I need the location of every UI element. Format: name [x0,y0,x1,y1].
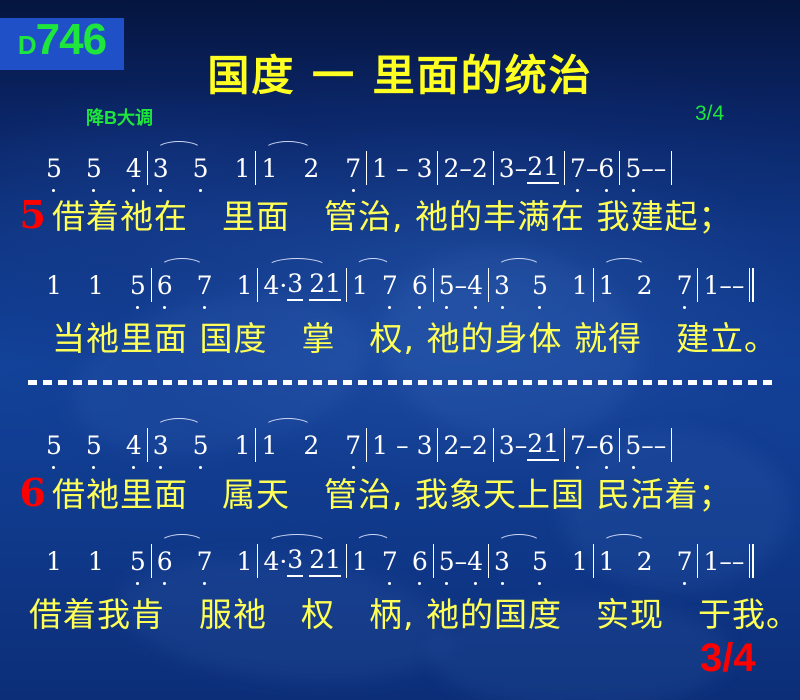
note: 3 [494,271,510,300]
barline [593,268,594,302]
note: 5 [625,154,641,183]
note: 3 [494,547,510,576]
note: 2 [443,431,459,460]
note: 1 [325,545,341,574]
note: 1 [572,547,588,576]
barline [366,428,367,462]
note: 1 [599,271,615,300]
note: 5 [46,431,62,460]
lyric-text: 借祂里面 属天 管治, 我象天上国 民活着； [52,468,732,516]
rest-dash: – [654,431,667,460]
note: 1 [543,429,559,458]
note: 1 [372,154,388,183]
note: 1 [325,269,341,298]
barline [488,544,489,578]
note: 5 [130,271,146,300]
note: 2 [637,271,653,300]
lyric-text: 借着祂在 里面 管治, 祂的丰满在 我建起； [52,190,732,238]
note: 1 [88,271,104,300]
rest-dash: – [732,271,745,300]
note: 1 [352,271,368,300]
note: 7 [570,431,586,460]
note: 1 [235,431,251,460]
lyric-line-3: 6 借祂里面 属天 管治, 我象天上国 民活着； [0,468,800,516]
note: 4 [467,547,483,576]
notation-line-4: 1 1 5 6 7 1 4 · 3 21 1 7 6 5–4 3 5 1 1 2… [46,538,766,584]
note: 1 [543,152,559,181]
augmentation-dot: · [279,547,287,576]
note: 2 [309,545,325,574]
lyric-line-1: 5 借着祂在 里面 管治, 祂的丰满在 我建起； [0,190,800,238]
note: 7 [570,154,586,183]
note: 1 [46,547,62,576]
note: 7 [677,547,693,576]
rest-dash: – [719,547,732,576]
note: 7 [345,431,361,460]
note: 4 [263,547,279,576]
barline [697,544,698,578]
barline [488,268,489,302]
slide-canvas: D746 国度 一 里面的统治 降B大调 3/4 5 5 4 3 5 1 1 2… [0,0,800,700]
lyric-line-4: 借着我肯 服祂 权 柄, 祂的国度 实现 于我。 [0,588,800,636]
notation-line-1: 5 5 4 3 5 1 1 2 7 1 – 3 2–2 3–21 7–6 5–– [46,145,766,191]
lyric-line-2: 当祂里面 国度 掌 权, 祂的身体 就得 建立。 [0,312,800,360]
barline [433,544,434,578]
rest-dash: – [515,154,528,183]
note: 3 [153,431,169,460]
time-signature-bottom: 3/4 [700,636,756,681]
note: 5 [193,154,209,183]
note: 4 [126,431,142,460]
note: 1 [352,547,368,576]
note: 6 [157,271,173,300]
note: 5 [439,547,455,576]
note: 1 [703,271,719,300]
note: 1 [46,271,62,300]
barline [493,151,494,185]
note: 5 [130,547,146,576]
note: 5 [86,154,102,183]
rest-dash: – [586,431,599,460]
note: 2 [443,154,459,183]
beamed-notes: 21 [309,545,341,577]
note: 5 [46,154,62,183]
note: 5 [532,547,548,576]
rest-dash: – [396,431,409,460]
barline [147,151,148,185]
barline [151,268,152,302]
rest-dash: – [654,154,667,183]
barline [437,428,438,462]
beamed-note: 3 [287,269,303,301]
rest-dash: – [455,547,468,576]
beamed-notes: 21 [527,429,559,461]
note: 2 [472,154,488,183]
note: 3 [417,154,433,183]
barline [346,268,347,302]
rest-dash: – [732,547,745,576]
note: 2 [637,547,653,576]
note: 1 [703,547,719,576]
section-divider [28,380,772,385]
note: 1 [372,431,388,460]
note: 5 [193,431,209,460]
note: 1 [599,547,615,576]
beamed-note: 3 [287,545,303,577]
rest-dash: – [459,431,472,460]
note: 3 [499,431,515,460]
note: 7 [382,547,398,576]
barline [619,428,620,462]
note: 1 [237,271,253,300]
note: 1 [572,271,588,300]
barline [255,151,256,185]
double-barline [749,268,754,302]
rest-dash: – [641,154,654,183]
note: 2 [303,154,319,183]
barline [671,428,672,462]
lyric-text: 借着我肯 服祂 权 柄, 祂的国度 实现 于我。 [29,588,800,636]
note: 1 [88,547,104,576]
note: 3 [417,431,433,460]
note: 3 [153,154,169,183]
beamed-notes: 21 [527,152,559,184]
double-barline [749,544,754,578]
note: 2 [309,269,325,298]
note: 2 [527,429,543,458]
note: 1 [235,154,251,183]
note: 5 [86,431,102,460]
note: 3 [287,545,303,574]
verse-number: 6 [0,470,52,515]
note: 3 [287,269,303,298]
barline [564,428,565,462]
note: 1 [261,154,277,183]
note: 6 [598,431,614,460]
beamed-notes: 21 [309,269,341,301]
augmentation-dot: · [279,271,287,300]
note: 2 [527,152,543,181]
rest-dash: – [515,431,528,460]
rest-dash: – [719,271,732,300]
barline [437,151,438,185]
rest-dash: – [586,154,599,183]
barline [366,151,367,185]
rest-dash: – [396,154,409,183]
page-title: 国度 一 里面的统治 [0,42,800,103]
notation-line-2: 1 1 5 6 7 1 4 · 3 21 1 7 6 5–4 3 5 1 1 2… [46,262,766,308]
barline [564,151,565,185]
note: 5 [625,431,641,460]
note: 2 [472,431,488,460]
rest-dash: – [455,271,468,300]
note: 7 [677,271,693,300]
barline [151,544,152,578]
note: 3 [499,154,515,183]
barline [346,544,347,578]
note: 4 [263,271,279,300]
barline [257,544,258,578]
note: 5 [439,271,455,300]
note: 6 [157,547,173,576]
note: 2 [303,431,319,460]
note: 4 [126,154,142,183]
barline [433,268,434,302]
lyric-text: 当祂里面 国度 掌 权, 祂的身体 就得 建立。 [52,312,778,360]
rest-dash: – [459,154,472,183]
barline [671,151,672,185]
key-signature-label: 降B大调 [86,104,153,130]
note: 1 [237,547,253,576]
note: 1 [261,431,277,460]
note: 7 [345,154,361,183]
time-signature-top: 3/4 [695,102,724,126]
notation-line-3: 5 5 4 3 5 1 1 2 7 1 – 3 2–2 3–21 7–6 5–– [46,422,766,468]
note: 6 [412,271,428,300]
note: 7 [197,271,213,300]
note: 6 [598,154,614,183]
barline [697,268,698,302]
barline [257,268,258,302]
rest-dash: – [641,431,654,460]
note: 4 [467,271,483,300]
note: 6 [412,547,428,576]
barline [255,428,256,462]
barline [493,428,494,462]
note: 5 [532,271,548,300]
verse-number: 5 [0,192,52,237]
note: 7 [197,547,213,576]
barline [619,151,620,185]
barline [147,428,148,462]
barline [593,544,594,578]
note: 7 [382,271,398,300]
